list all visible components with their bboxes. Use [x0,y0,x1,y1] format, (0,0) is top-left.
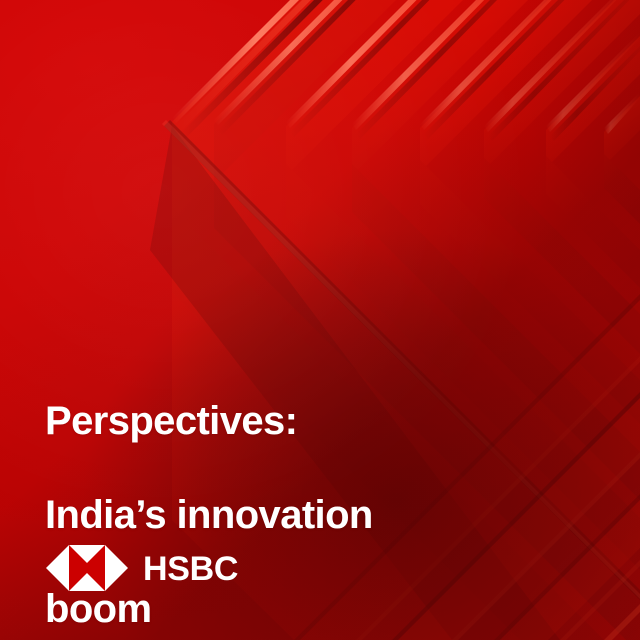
headline-line-2: India’s innovation [45,492,475,539]
headline-line-3: boom [45,586,475,633]
hsbc-perspectives-card: Perspectives: India’s innovation boom HS… [0,0,640,640]
hsbc-wordmark: HSBC [143,552,238,586]
headline: Perspectives: India’s innovation boom [45,351,475,640]
headline-line-1: Perspectives: [45,398,475,445]
hsbc-hexagon-icon [46,545,128,591]
hsbc-logo-lockup: HSBC [46,545,238,591]
